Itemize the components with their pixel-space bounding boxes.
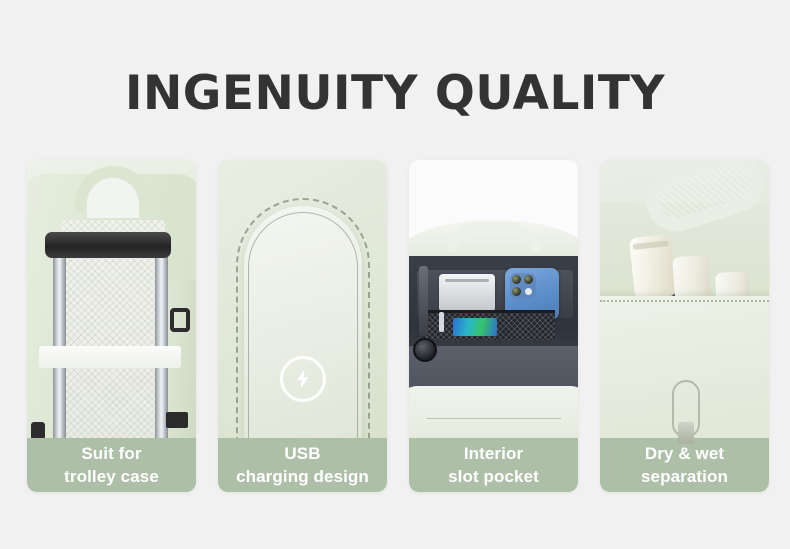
- key-strap: [419, 266, 428, 336]
- panel-caption-trolley-sleeve: Suit for trolley case: [27, 438, 196, 492]
- caption-line-2: slot pocket: [448, 465, 539, 488]
- top-grab-handle: [447, 222, 541, 252]
- pocket-seam: [600, 300, 769, 302]
- camera-lens: [524, 275, 533, 284]
- feature-panel-usb-charging[interactable]: USB charging design: [218, 160, 387, 492]
- caption-line-2: trolley case: [64, 465, 159, 488]
- camera-lens: [512, 275, 521, 284]
- feature-panel-strip: Suit for trolley case USB charging desig…: [27, 160, 763, 492]
- caption-line-2: separation: [641, 465, 728, 488]
- side-buckle: [166, 412, 188, 428]
- d-ring-icon: [170, 308, 190, 332]
- colorful-card: [453, 318, 497, 336]
- caption-line-2: charging design: [236, 465, 369, 488]
- camera-flash: [525, 288, 532, 295]
- caption-line-1: Suit for: [81, 442, 141, 465]
- inner-stitching: [248, 212, 358, 450]
- panel-caption-interior-slot: Interior slot pocket: [409, 438, 578, 492]
- caption-line-1: USB: [284, 442, 320, 465]
- zipper-pull: [678, 422, 694, 444]
- caption-line-1: Interior: [464, 442, 523, 465]
- phone-camera-module: [510, 273, 536, 299]
- lightning-bolt-icon: [280, 356, 326, 402]
- power-bank: [439, 274, 495, 312]
- front-seam: [427, 418, 561, 419]
- page-title: INGENUITY QUALITY: [0, 66, 790, 121]
- panel-caption-dry-wet: Dry & wet separation: [600, 438, 769, 492]
- panel-caption-usb-charging: USB charging design: [218, 438, 387, 492]
- zipper-pull: [439, 312, 444, 332]
- trolley-sleeve-strap: [39, 346, 181, 368]
- camera-lens: [512, 287, 521, 296]
- trolley-handle-grip: [45, 232, 171, 258]
- caption-line-1: Dry & wet: [645, 442, 724, 465]
- feature-panel-trolley-sleeve[interactable]: Suit for trolley case: [27, 160, 196, 492]
- feature-panel-dry-wet[interactable]: Dry & wet separation: [600, 160, 769, 492]
- bottle-cream: [629, 234, 677, 300]
- feature-panel-interior-slot[interactable]: Interior slot pocket: [409, 160, 578, 492]
- key-fob: [413, 338, 437, 362]
